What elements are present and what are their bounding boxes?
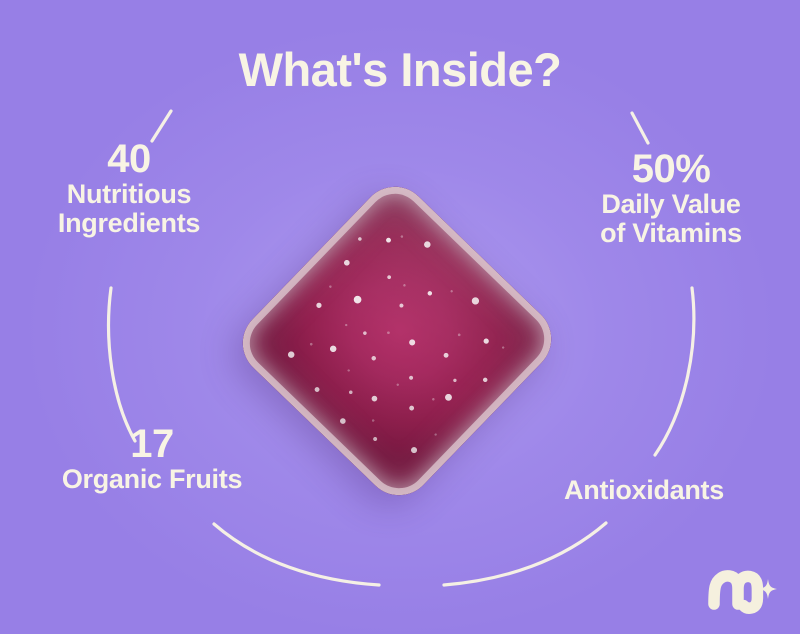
stat-organic-fruits-label-line1: Organic Fruits [22,465,282,494]
arc-segment-top-left [152,111,171,141]
stat-ingredients-label-line2: Ingredients [14,209,244,238]
brand-logo [708,558,780,616]
arc-segment-top-right [632,113,648,143]
infographic-canvas: What's Inside? 40 Nutritious Ingredients… [0,0,800,634]
arc-segment-bottom-left [214,524,379,585]
stat-antioxidants: Antioxidants [500,476,788,505]
stat-ingredients-label-line1: Nutritious [14,180,244,209]
stat-vitamins: 50% Daily Value of Vitamins [556,148,786,248]
arc-segment-left [109,288,135,441]
stat-ingredients-number: 40 [14,138,244,180]
logo-letter-m [714,576,757,608]
stat-vitamins-number: 50% [556,148,786,190]
arc-segment-right [655,288,694,455]
arc-segment-bottom-right [444,523,606,585]
stat-vitamins-label-line1: Daily Value [556,190,786,219]
stat-vitamins-label-line2: of Vitamins [556,219,786,248]
stat-antioxidants-label-line1: Antioxidants [500,476,788,505]
stat-organic-fruits: 17 Organic Fruits [22,423,282,494]
stat-ingredients: 40 Nutritious Ingredients [14,138,244,238]
page-title: What's Inside? [0,44,800,96]
stat-organic-fruits-number: 17 [22,423,282,465]
